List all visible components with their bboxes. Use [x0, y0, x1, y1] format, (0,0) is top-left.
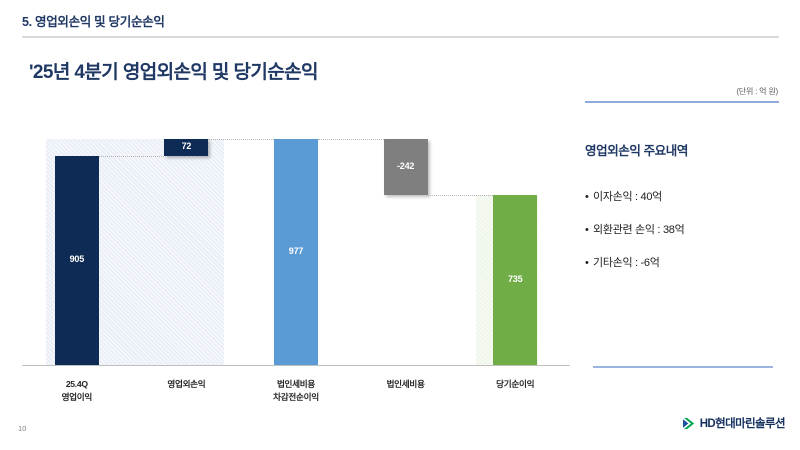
- side-panel-item-text: 기타손익 : -6억: [593, 257, 660, 269]
- chart-bar-value: 905: [55, 254, 99, 264]
- chart-axis-line: [22, 365, 570, 366]
- chart-category-label: 법인세비용: [351, 378, 461, 391]
- bullet-icon: •: [585, 257, 593, 269]
- chart-category-line: 당기순이익: [460, 378, 570, 391]
- side-panel-heading: 영업외손익 주요내역: [585, 140, 785, 159]
- chart-category-label: 법인세비용차감전순이익: [241, 378, 351, 404]
- chart-connector: [428, 195, 494, 196]
- chart-category-line: 차감전순이익: [241, 391, 351, 404]
- chart-category-label: 영업외손익: [132, 378, 242, 391]
- side-panel-list: •이자손익 : 40억•외환관련 손익 : 38억•기타손익 : -6억: [585, 188, 785, 270]
- side-panel-item: •외환관련 손익 : 38억: [585, 221, 785, 237]
- waterfall-chart: 90572977-242735 25.4Q영업이익영업외손익법인세비용차감전순이…: [22, 120, 570, 370]
- chart-plot-area: 90572977-242735: [22, 120, 570, 365]
- chevron-icon: [683, 417, 697, 430]
- chart-bar-value: 977: [274, 246, 318, 256]
- chart-bar: -242: [384, 139, 428, 195]
- page-number: 10: [18, 424, 26, 433]
- chart-category-label: 25.4Q영업이익: [22, 378, 132, 404]
- unit-label: (단위 : 억 원): [736, 86, 778, 97]
- header-divider: [22, 36, 779, 38]
- chart-connector: [99, 156, 165, 157]
- bullet-icon: •: [585, 224, 593, 236]
- chart-bar: 735: [493, 195, 537, 365]
- chart-category-line: 영업이익: [22, 391, 132, 404]
- page-title: '25년 4분기 영업외손익 및 당기순손익: [29, 57, 318, 84]
- chart-bar: 977: [274, 139, 318, 365]
- chart-category-labels: 25.4Q영업이익영업외손익법인세비용차감전순이익법인세비용당기순이익: [22, 370, 570, 410]
- logo-text: HD현대마린솔루션: [700, 415, 785, 431]
- company-logo: HD현대마린솔루션: [683, 415, 785, 431]
- chart-connector: [318, 139, 384, 140]
- chart-category-line: 영업외손익: [132, 378, 242, 391]
- side-panel-item: •이자손익 : 40억: [585, 188, 785, 204]
- chart-category-line: 법인세비용: [351, 378, 461, 391]
- side-panel-item: •기타손익 : -6억: [585, 254, 785, 270]
- chart-bar-value: 735: [493, 274, 537, 284]
- chart-category-line: 법인세비용: [241, 378, 351, 391]
- chart-category-line: 25.4Q: [22, 378, 132, 391]
- chart-category-label: 당기순이익: [460, 378, 570, 391]
- chart-bar-value: 72: [164, 141, 208, 151]
- side-panel-item-text: 이자손익 : 40억: [593, 191, 662, 203]
- section-title: 5. 영업외손익 및 당기순손익: [22, 11, 165, 30]
- unit-divider: [585, 101, 779, 103]
- slide-header: 5. 영업외손익 및 당기순손익: [0, 0, 800, 40]
- bullet-icon: •: [585, 191, 593, 203]
- chart-bar: 72: [164, 139, 208, 156]
- side-panel: 영업외손익 주요내역 •이자손익 : 40억•외환관련 손익 : 38억•기타손…: [585, 140, 785, 287]
- chart-bar-value: -242: [384, 161, 428, 171]
- side-panel-item-text: 외환관련 손익 : 38억: [593, 224, 684, 236]
- chart-bar: 905: [55, 156, 99, 365]
- side-panel-divider: [593, 366, 773, 368]
- chart-connector: [208, 139, 274, 140]
